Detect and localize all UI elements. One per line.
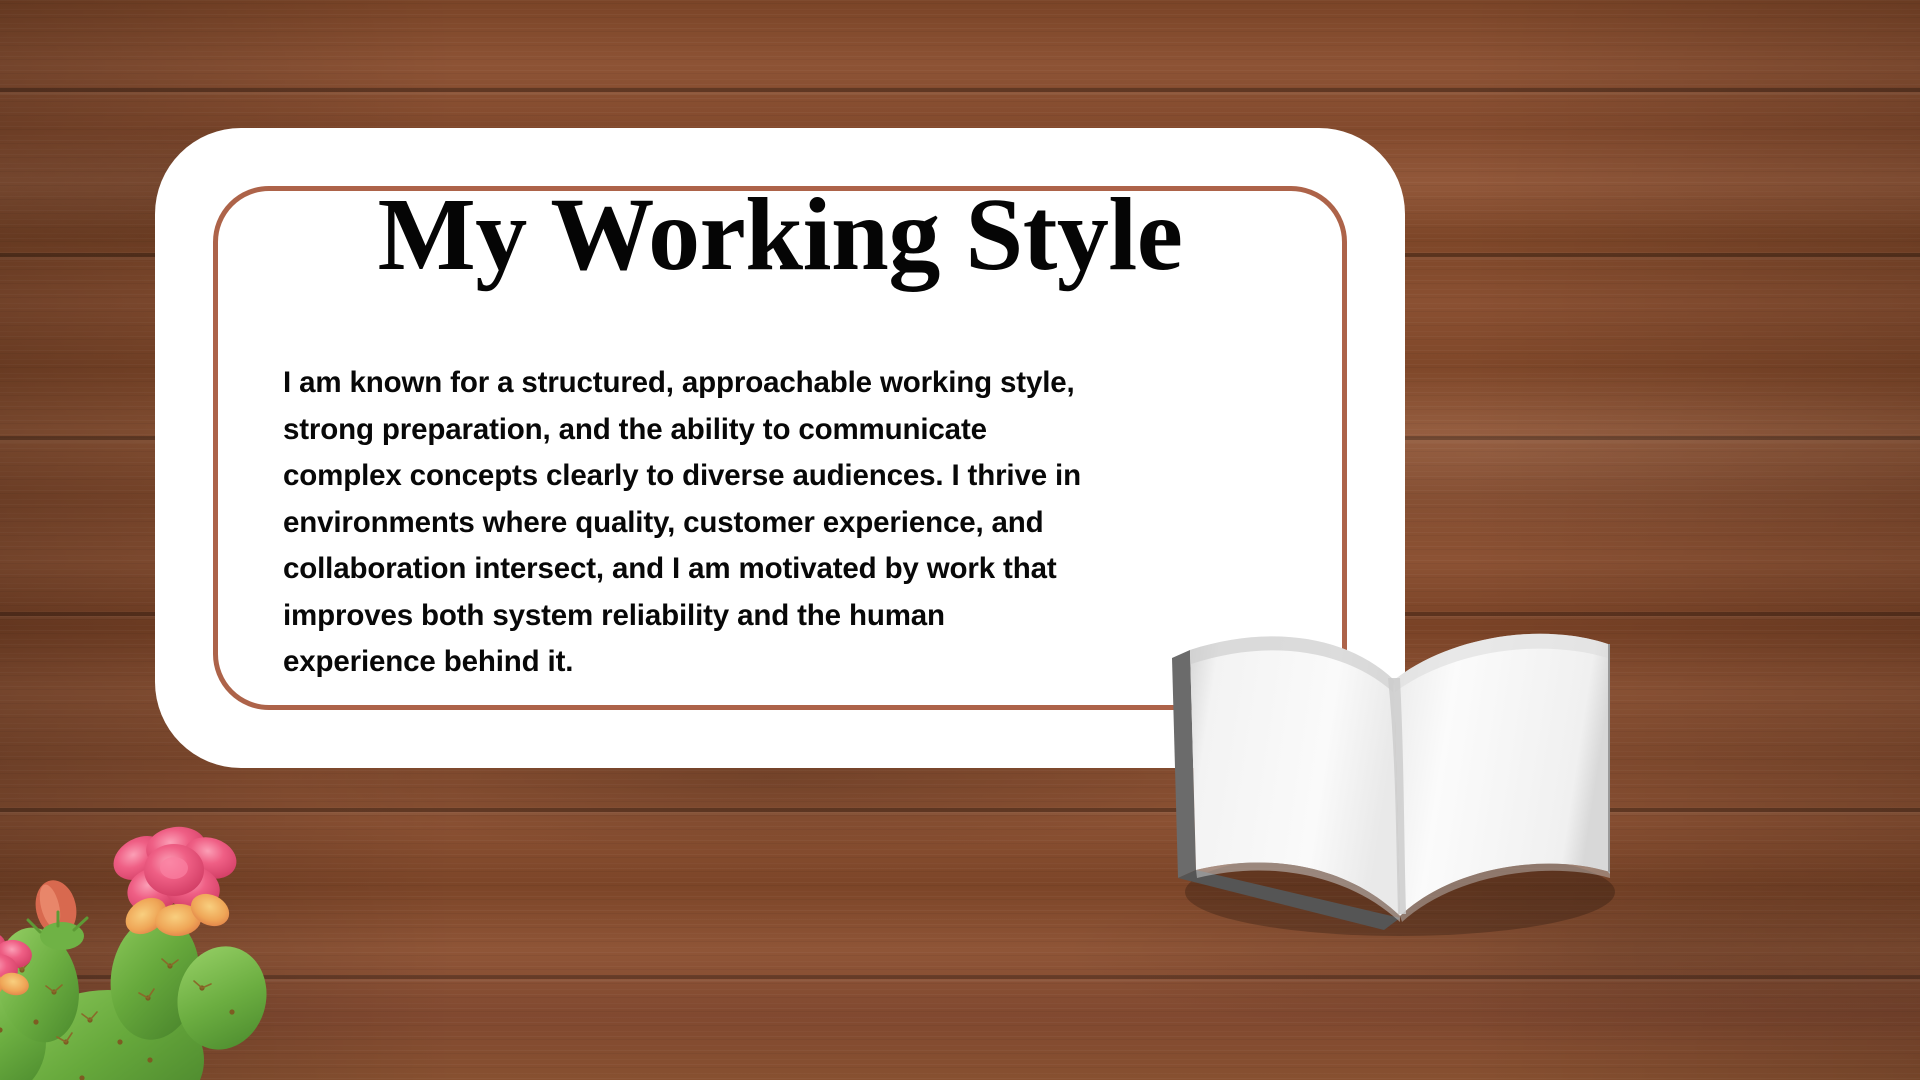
body-paragraph: I am known for a structured, approachabl…	[283, 360, 1103, 686]
content-card: My Working Style I am known for a struct…	[155, 128, 1405, 768]
slide-canvas: My Working Style I am known for a struct…	[0, 0, 1920, 1080]
page-title: My Working Style	[155, 180, 1405, 289]
card-content: My Working Style I am known for a struct…	[155, 128, 1405, 768]
